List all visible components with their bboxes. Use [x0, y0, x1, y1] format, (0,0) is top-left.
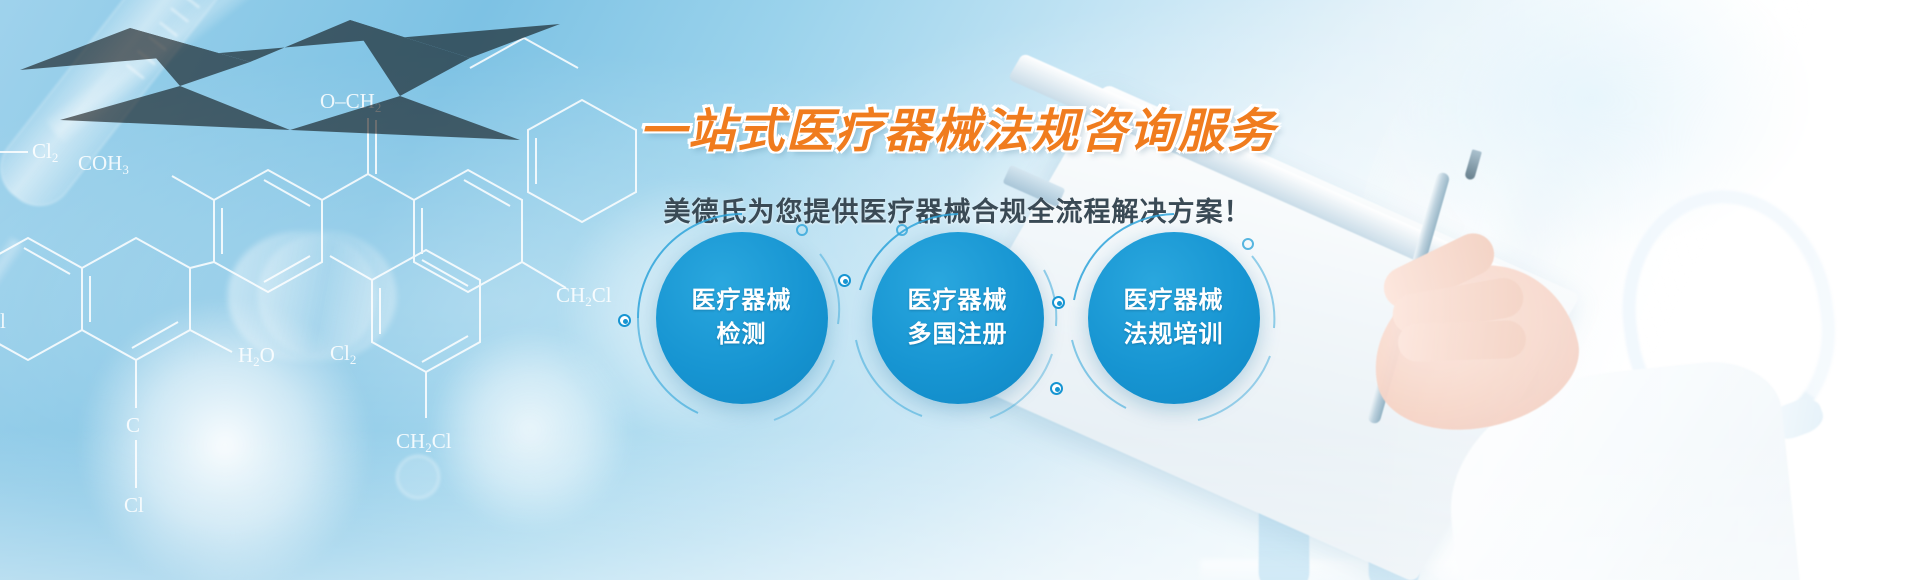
service-circle-registration: 医疗器械 多国注册 — [872, 232, 1044, 404]
service-label-line2: 检测 — [717, 318, 767, 352]
service-button-testing[interactable]: 医疗器械 检测 — [656, 232, 828, 404]
ring-dot-marker — [1052, 296, 1065, 309]
service-label-line1: 医疗器械 — [692, 284, 792, 318]
service-button-training[interactable]: 医疗器械 法规培训 — [1088, 232, 1260, 404]
service-circle-testing: 医疗器械 检测 — [656, 232, 828, 404]
service-button-registration[interactable]: 医疗器械 多国注册 — [872, 232, 1044, 404]
hero-banner: Cl2 COH3 O–CH2 H2O Cl C Cl Cl2 CH2Cl CH2… — [0, 0, 1915, 580]
service-label-line1: 医疗器械 — [908, 284, 1008, 318]
service-circle-training: 医疗器械 法规培训 — [1088, 232, 1260, 404]
service-label-line1: 医疗器械 — [1124, 284, 1224, 318]
ring-dot-marker — [618, 314, 631, 327]
service-circle-group: 医疗器械 检测 医疗器械 多国注册 — [0, 232, 1915, 404]
service-label-line2: 多国注册 — [908, 318, 1008, 352]
bottom-fade-overlay — [0, 430, 1915, 580]
service-label-line2: 法规培训 — [1124, 318, 1224, 352]
headline-container: 一站式医疗器械法规咨询服务 — [0, 92, 1915, 161]
page-title: 一站式医疗器械法规咨询服务 — [639, 92, 1276, 161]
ring-dot-marker — [838, 274, 851, 287]
